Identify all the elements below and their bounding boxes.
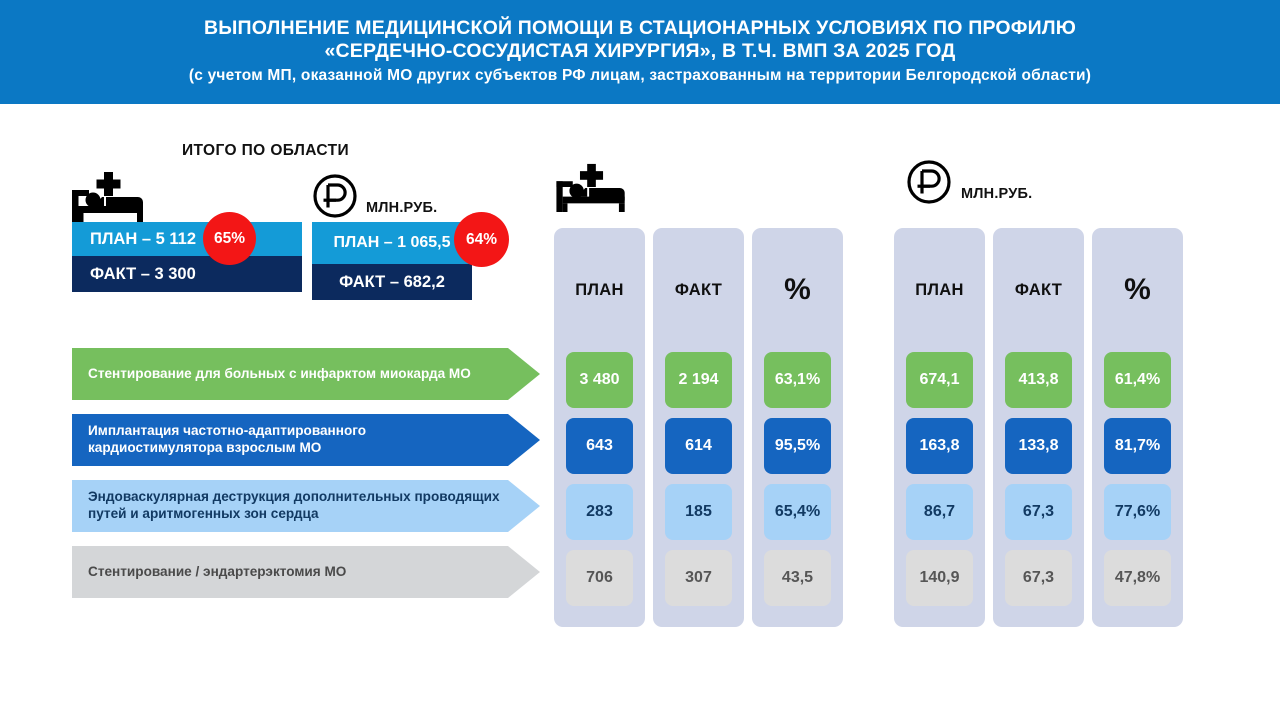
- ruble-circle-icon: [906, 158, 952, 208]
- title-line-2: «СЕРДЕЧНО-СОСУДИСТАЯ ХИРУРГИЯ», В Т.Ч. В…: [324, 40, 955, 63]
- title-line-1: ВЫПОЛНЕНИЕ МЕДИЦИНСКОЙ ПОМОЩИ В СТАЦИОНА…: [204, 17, 1076, 40]
- value-cell: 283: [566, 484, 633, 540]
- value-cell: 307: [665, 550, 732, 606]
- procedure-label-text: Имплантация частотно-адаптированного кар…: [88, 423, 500, 457]
- group-money-icon-row: МЛН.РУБ.: [906, 158, 1032, 208]
- procedure-label-row: Стентирование / эндартерэктомия МО: [72, 546, 540, 598]
- group-cases-icon-row: [556, 162, 628, 212]
- column-header: %: [784, 228, 811, 352]
- summary-block-money: МЛН.РУБ. ПЛАН – 1 065,5 ФАКТ – 682,2: [312, 168, 472, 300]
- summary-money-percent-badge: 64%: [454, 212, 509, 267]
- procedure-label-text: Эндоваскулярная деструкция дополнительны…: [88, 489, 500, 523]
- procedure-label-list: Стентирование для больных с инфарктом ми…: [72, 348, 540, 612]
- ruble-circle-icon: [312, 172, 358, 222]
- column-header: %: [1124, 228, 1151, 352]
- column-header: ФАКТ: [1015, 228, 1062, 352]
- value-cell: 643: [566, 418, 633, 474]
- value-cell: 674,1: [906, 352, 973, 408]
- value-cell: 163,8: [906, 418, 973, 474]
- value-cell: 140,9: [906, 550, 973, 606]
- value-cell: 413,8: [1005, 352, 1072, 408]
- summary-heading: ИТОГО ПО ОБЛАСТИ: [182, 142, 349, 160]
- column-percent-cases: % 63,1% 95,5% 65,4% 43,5: [752, 228, 843, 627]
- summary-cases-plan: ПЛАН – 5 112: [72, 222, 302, 256]
- column-fact-money: ФАКТ 413,8 133,8 67,3 67,3: [993, 228, 1084, 627]
- value-cell: 185: [665, 484, 732, 540]
- title-subtitle: (с учетом МП, оказанной МО других субъек…: [189, 67, 1091, 85]
- value-cell: 63,1%: [764, 352, 831, 408]
- summary-money-plan: ПЛАН – 1 065,5: [312, 222, 472, 264]
- column-header: ФАКТ: [675, 228, 722, 352]
- value-cell: 706: [566, 550, 633, 606]
- summary-cases-fact: ФАКТ – 3 300: [72, 256, 302, 292]
- value-cell: 86,7: [906, 484, 973, 540]
- value-cell: 2 194: [665, 352, 732, 408]
- value-cell: 43,5: [764, 550, 831, 606]
- column-fact-cases: ФАКТ 2 194 614 185 307: [653, 228, 744, 627]
- value-cell: 67,3: [1005, 484, 1072, 540]
- value-cell: 65,4%: [764, 484, 831, 540]
- hospital-bed-icon: [556, 162, 628, 212]
- column-plan-money: ПЛАН 674,1 163,8 86,7 140,9: [894, 228, 985, 627]
- value-cell: 77,6%: [1104, 484, 1171, 540]
- column-header: ПЛАН: [915, 228, 963, 352]
- procedure-label-text: Стентирование для больных с инфарктом ми…: [88, 366, 471, 383]
- procedure-label-row: Эндоваскулярная деструкция дополнительны…: [72, 480, 540, 532]
- value-cell: 133,8: [1005, 418, 1072, 474]
- procedure-label-row: Имплантация частотно-адаптированного кар…: [72, 414, 540, 466]
- column-header: ПЛАН: [575, 228, 623, 352]
- procedure-label-text: Стентирование / эндартерэктомия МО: [88, 564, 346, 581]
- value-cell: 614: [665, 418, 732, 474]
- hospital-bed-icon: [72, 170, 146, 222]
- data-group-money: ПЛАН 674,1 163,8 86,7 140,9 ФАКТ 413,8 1…: [894, 228, 1183, 627]
- summary-block-cases: ПЛАН – 5 112 ФАКТ – 3 300: [72, 168, 302, 292]
- value-cell: 61,4%: [1104, 352, 1171, 408]
- summary-cases-icon-row: [72, 168, 302, 222]
- value-cell: 95,5%: [764, 418, 831, 474]
- title-banner: ВЫПОЛНЕНИЕ МЕДИЦИНСКОЙ ПОМОЩИ В СТАЦИОНА…: [0, 0, 1280, 104]
- summary-money-fact: ФАКТ – 682,2: [312, 264, 472, 300]
- value-cell: 3 480: [566, 352, 633, 408]
- value-cell: 81,7%: [1104, 418, 1171, 474]
- summary-cases-percent-badge: 65%: [203, 212, 256, 265]
- value-cell: 47,8%: [1104, 550, 1171, 606]
- data-group-cases: ПЛАН 3 480 643 283 706 ФАКТ 2 194 614 18…: [554, 228, 843, 627]
- column-plan-cases: ПЛАН 3 480 643 283 706: [554, 228, 645, 627]
- value-cell: 67,3: [1005, 550, 1072, 606]
- group-money-unit: МЛН.РУБ.: [961, 186, 1032, 208]
- summary-money-unit: МЛН.РУБ.: [366, 200, 437, 222]
- column-percent-money: % 61,4% 81,7% 77,6% 47,8%: [1092, 228, 1183, 627]
- procedure-label-row: Стентирование для больных с инфарктом ми…: [72, 348, 540, 400]
- summary-money-icon-row: МЛН.РУБ.: [312, 168, 472, 222]
